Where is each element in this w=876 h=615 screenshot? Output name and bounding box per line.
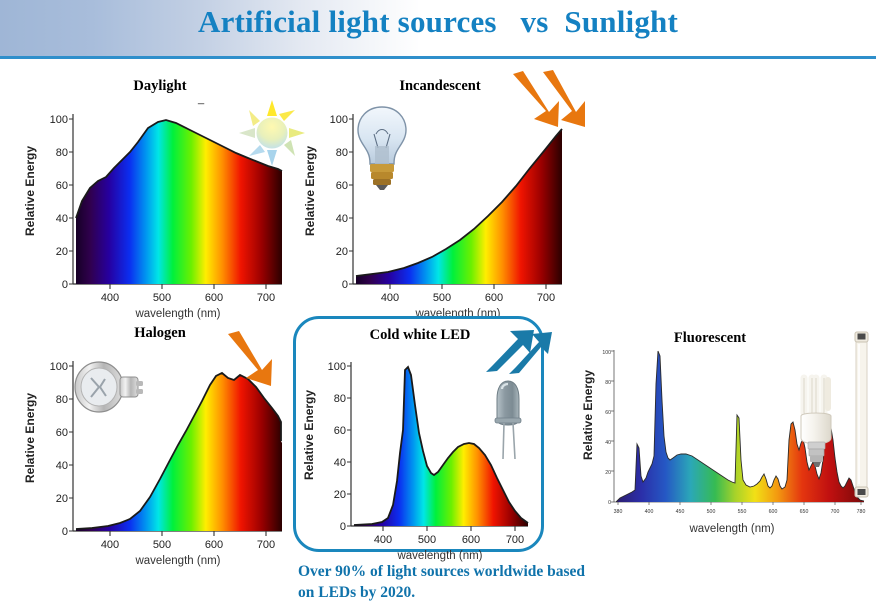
x-tick-700: 700 bbox=[831, 509, 840, 515]
x-axis-title: wavelength (nm) bbox=[134, 308, 220, 320]
blue-up-arrow-icon bbox=[482, 322, 554, 378]
x-tick-600: 600 bbox=[205, 292, 223, 304]
led-leads bbox=[503, 423, 515, 459]
x-tick-marks bbox=[110, 531, 266, 536]
y-tick-80: 80 bbox=[336, 147, 348, 159]
page-title: Artificial light sources vs Sunlight bbox=[0, 4, 876, 40]
x-tick-400: 400 bbox=[374, 534, 392, 546]
sun-ray-w bbox=[239, 128, 255, 138]
arrow-1 bbox=[486, 330, 534, 372]
y-axis-title: Relative Energy bbox=[581, 370, 595, 460]
y-tick-80: 80 bbox=[605, 380, 611, 386]
y-tick-40: 40 bbox=[336, 213, 348, 225]
bulb-base-3 bbox=[373, 179, 391, 185]
x-tick-700: 700 bbox=[537, 292, 555, 304]
y-tick-100: 100 bbox=[50, 114, 68, 126]
sun-disc bbox=[257, 118, 288, 149]
y-tick-60: 60 bbox=[605, 410, 611, 416]
y-axis-title: Relative Energy bbox=[303, 146, 317, 236]
y-tick-60: 60 bbox=[334, 425, 346, 437]
y-tick-100: 100 bbox=[328, 361, 346, 373]
y-tick-20: 20 bbox=[605, 470, 611, 476]
caption-block: Over 90% of light sources worldwide base… bbox=[298, 562, 718, 604]
y-tick-0: 0 bbox=[342, 279, 348, 291]
x-axis-title: wavelength (nm) bbox=[688, 523, 774, 535]
y-tick-0: 0 bbox=[62, 279, 68, 291]
y-tick-0: 0 bbox=[340, 521, 346, 533]
orange-down-arrow-icon bbox=[222, 330, 278, 390]
y-tick-80: 80 bbox=[56, 147, 68, 159]
panel-fluorescent: Fluorescent Relative Energy 100 80 60 40… bbox=[580, 330, 876, 555]
x-tick-500: 500 bbox=[153, 292, 171, 304]
y-axis-title: Relative Energy bbox=[302, 390, 316, 480]
y-axis-title: Relative Energy bbox=[23, 393, 37, 483]
tube-electrode-bottom bbox=[858, 489, 866, 495]
title-underline bbox=[0, 56, 876, 59]
x-tick-marks bbox=[110, 284, 266, 289]
x-tick-marks bbox=[390, 284, 546, 289]
led-flange bbox=[495, 418, 521, 423]
y-tick-80: 80 bbox=[56, 394, 68, 406]
sun-ray-ne bbox=[279, 110, 295, 121]
x-tick-400: 400 bbox=[101, 292, 119, 304]
led-bulb-icon bbox=[486, 375, 530, 461]
y-tick-40: 40 bbox=[56, 460, 68, 472]
lamp-pin-1 bbox=[136, 381, 143, 386]
sun-ray-s bbox=[267, 150, 277, 166]
sun-ray-se bbox=[284, 140, 295, 156]
bulb-stem bbox=[375, 146, 389, 166]
panel-daylight: Daylight _ Relative Energy 100 80 60 40 … bbox=[20, 78, 300, 308]
cfl-base-3 bbox=[810, 456, 823, 462]
y-tick-20: 20 bbox=[334, 489, 346, 501]
x-tick-500: 500 bbox=[153, 539, 171, 551]
cfl-base-1 bbox=[808, 442, 825, 449]
y-tick-60: 60 bbox=[56, 180, 68, 192]
x-tick-400: 400 bbox=[381, 292, 399, 304]
x-tick-700: 700 bbox=[257, 539, 275, 551]
y-tick-marks bbox=[611, 351, 614, 502]
x-tick-400: 400 bbox=[645, 509, 654, 515]
sun-icon bbox=[235, 96, 309, 170]
incandescent-bulb-icon bbox=[352, 104, 412, 192]
y-tick-60: 60 bbox=[336, 180, 348, 192]
sun-ray-sw bbox=[249, 145, 265, 156]
y-tick-marks bbox=[347, 366, 351, 526]
y-axis-title: Relative Energy bbox=[23, 146, 37, 236]
x-tick-450: 450 bbox=[676, 509, 685, 515]
halogen-lamp-icon bbox=[72, 358, 148, 416]
x-tick-380: 380 bbox=[614, 509, 623, 515]
y-tick-20: 20 bbox=[336, 246, 348, 258]
x-tick-780: 780 bbox=[857, 509, 866, 515]
cfl-contact bbox=[813, 462, 821, 467]
title-band: Artificial light sources vs Sunlight bbox=[0, 0, 876, 56]
fluorescent-tube-icon bbox=[848, 330, 874, 500]
lamp-body bbox=[120, 377, 138, 397]
cfl-housing bbox=[801, 413, 831, 444]
tube-glass bbox=[856, 338, 867, 490]
bulb-base-2 bbox=[371, 172, 393, 179]
x-tick-650: 650 bbox=[800, 509, 809, 515]
cfl-base-2 bbox=[809, 449, 824, 456]
x-tick-marks bbox=[618, 502, 861, 505]
y-tick-80: 80 bbox=[334, 393, 346, 405]
x-tick-550: 550 bbox=[738, 509, 747, 515]
y-tick-100: 100 bbox=[330, 114, 348, 126]
x-tick-600: 600 bbox=[205, 539, 223, 551]
x-tick-600: 600 bbox=[485, 292, 503, 304]
x-tick-600: 600 bbox=[769, 509, 778, 515]
orange-down-arrow-icon bbox=[503, 70, 589, 136]
x-tick-500: 500 bbox=[707, 509, 716, 515]
x-tick-600: 600 bbox=[462, 534, 480, 546]
y-tick-20: 20 bbox=[56, 493, 68, 505]
caption-line-1: Over 90% of light sources worldwide base… bbox=[298, 562, 718, 583]
x-axis-title: wavelength (nm) bbox=[134, 555, 220, 567]
tube-electrode-top bbox=[858, 334, 866, 340]
x-axis-title: wavelength (nm) bbox=[396, 550, 482, 562]
y-tick-60: 60 bbox=[56, 427, 68, 439]
x-tick-700: 700 bbox=[257, 292, 275, 304]
chart-title-daylight: Daylight bbox=[20, 78, 300, 95]
caption-line-2: on LEDs by 2020. bbox=[298, 583, 718, 604]
x-tick-marks bbox=[383, 526, 515, 531]
y-tick-100: 100 bbox=[602, 350, 611, 356]
cfl-bulb-icon bbox=[790, 372, 844, 482]
x-tick-700: 700 bbox=[506, 534, 524, 546]
x-tick-500: 500 bbox=[433, 292, 451, 304]
sun-ray-nw bbox=[249, 110, 260, 126]
y-tick-40: 40 bbox=[56, 213, 68, 225]
cfl-tubes bbox=[804, 378, 828, 417]
x-tick-400: 400 bbox=[101, 539, 119, 551]
y-tick-0: 0 bbox=[62, 526, 68, 538]
sun-ray-n bbox=[267, 100, 277, 116]
arrow-1 bbox=[228, 331, 272, 386]
y-tick-40: 40 bbox=[605, 440, 611, 446]
y-tick-40: 40 bbox=[334, 457, 346, 469]
bulb-base-1 bbox=[370, 164, 394, 172]
y-tick-20: 20 bbox=[56, 246, 68, 258]
x-tick-500: 500 bbox=[418, 534, 436, 546]
daylight-title-suffix: _ bbox=[197, 96, 205, 105]
y-tick-100: 100 bbox=[50, 361, 68, 373]
y-tick-0: 0 bbox=[608, 500, 611, 506]
lamp-pin-2 bbox=[136, 389, 143, 394]
bulb-contact bbox=[376, 185, 388, 190]
